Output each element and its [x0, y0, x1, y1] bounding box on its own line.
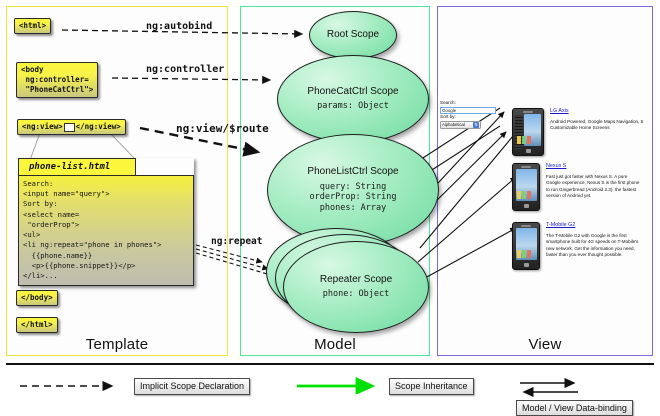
phone-list-item[interactable]: LG Axis Android Powered, Google Maps Nav…: [512, 108, 646, 156]
phone-info: Nexus S Fast just got faster with Nexus …: [546, 163, 642, 211]
column-label-model: Model: [241, 336, 429, 353]
home-button-icon: [524, 204, 529, 208]
updown-arrows-icon: ⇅: [473, 122, 479, 128]
scope-root-name: Root Scope: [327, 29, 379, 41]
column-label-template: Template: [7, 336, 227, 353]
phone-snippet: Fast just got faster with Nexus S. A pur…: [546, 174, 642, 200]
legend-item-implicit: Implicit Scope Declaration: [16, 376, 250, 395]
legend-item-inheritance: Scope Inheritance: [293, 376, 474, 395]
home-button-icon: [524, 263, 529, 267]
scope-phonecatctrl: PhoneCatCtrl Scope params: Object: [277, 55, 429, 143]
scope-repeater-name: Repeater Scope: [320, 274, 392, 286]
diagram-canvas: Template Model View: [0, 0, 660, 405]
phone-snippet: The T-Mobile G2 with Google is the first…: [546, 233, 642, 259]
scope-phonelistctrl-name: PhoneListCtrl Scope: [307, 166, 398, 178]
sort-label: Sort by:: [440, 114, 496, 121]
search-label: Search:: [440, 100, 496, 107]
tag-html-close: </html>: [16, 317, 58, 333]
phone-list-item[interactable]: T-Mobile G2 The T-Mobile G2 with Google …: [512, 222, 642, 270]
tag-ngview-open: <ng:view>: [22, 122, 63, 131]
phone-name-link[interactable]: T-Mobile G2: [546, 222, 642, 230]
column-label-view: View: [438, 336, 652, 353]
tag-html-open: <html>: [14, 18, 51, 34]
home-button-icon: [526, 149, 531, 153]
scope-phonelistctrl-props: query: String orderProp: String phones: …: [310, 182, 397, 214]
phone-thumbnail-icon: [512, 163, 540, 211]
dashed-arrow-icon: [16, 376, 134, 394]
scope-root: Root Scope: [309, 11, 397, 59]
legend-item-databinding: Model / View Data-binding: [516, 376, 660, 416]
phone-snippet: Android Powered, Google Maps Navigation,…: [550, 119, 646, 132]
scope-phonecatctrl-name: PhoneCatCtrl Scope: [307, 86, 398, 98]
connector-label-ng-view-route: ng:view/$route: [176, 122, 269, 135]
phone-info: T-Mobile G2 The T-Mobile G2 with Google …: [546, 222, 642, 270]
legend-divider: [6, 363, 654, 365]
sort-select[interactable]: Alphabetical ⇅: [440, 121, 481, 129]
phone-name-link[interactable]: LG Axis: [550, 108, 646, 116]
connector-label-ng-repeat: ng:repeat: [211, 236, 262, 247]
ngview-placeholder-icon: [64, 123, 75, 132]
app-grid-icon: [517, 250, 536, 258]
tag-ngview: <ng:view></ng:view>: [17, 119, 126, 135]
phone-thumbnail-icon: [512, 108, 544, 156]
sort-select-value: Alphabetical: [442, 122, 465, 127]
connector-label-ng-autobind: ng:autobind: [146, 21, 212, 32]
phone-name-link[interactable]: Nexus S: [546, 163, 642, 171]
tag-ngview-close: </ng:view>: [76, 122, 121, 131]
tag-body-close: </body>: [16, 290, 58, 306]
app-grid-icon: [517, 136, 540, 144]
search-widget: Search: Google Sort by: Alphabetical ⇅: [440, 100, 496, 129]
green-arrow-icon: [293, 376, 389, 394]
tag-body-open: <body ng:controller= "PhoneCatCtrl">: [16, 62, 98, 98]
scope-repeater: Repeater Scope phone: Object: [283, 241, 429, 333]
legend-label-inheritance: Scope Inheritance: [389, 378, 474, 394]
legend-label-databinding: Model / View Data-binding: [516, 400, 633, 416]
speaker-icon: [523, 111, 533, 113]
scope-repeater-props: phone: Object: [323, 289, 390, 300]
app-grid-icon: [517, 191, 536, 199]
phone-thumbnail-icon: [512, 222, 540, 270]
search-input[interactable]: Google: [440, 107, 496, 114]
phone-list-item[interactable]: Nexus S Fast just got faster with Nexus …: [512, 163, 642, 211]
code-card-body: Search: <input name="query"> Sort by: <s…: [18, 175, 194, 286]
phone-info: LG Axis Android Powered, Google Maps Nav…: [550, 108, 646, 156]
speaker-icon: [521, 225, 531, 227]
scope-phonecatctrl-props: params: Object: [317, 101, 389, 112]
code-card-title: phone-list.html: [18, 158, 136, 175]
speaker-icon: [521, 166, 531, 168]
code-card-phone-list: phone-list.html Search: <input name="que…: [18, 158, 194, 286]
connector-label-ng-controller: ng:controller: [146, 64, 224, 75]
legend-label-implicit: Implicit Scope Declaration: [134, 378, 250, 394]
double-arrow-icon: [516, 376, 588, 398]
